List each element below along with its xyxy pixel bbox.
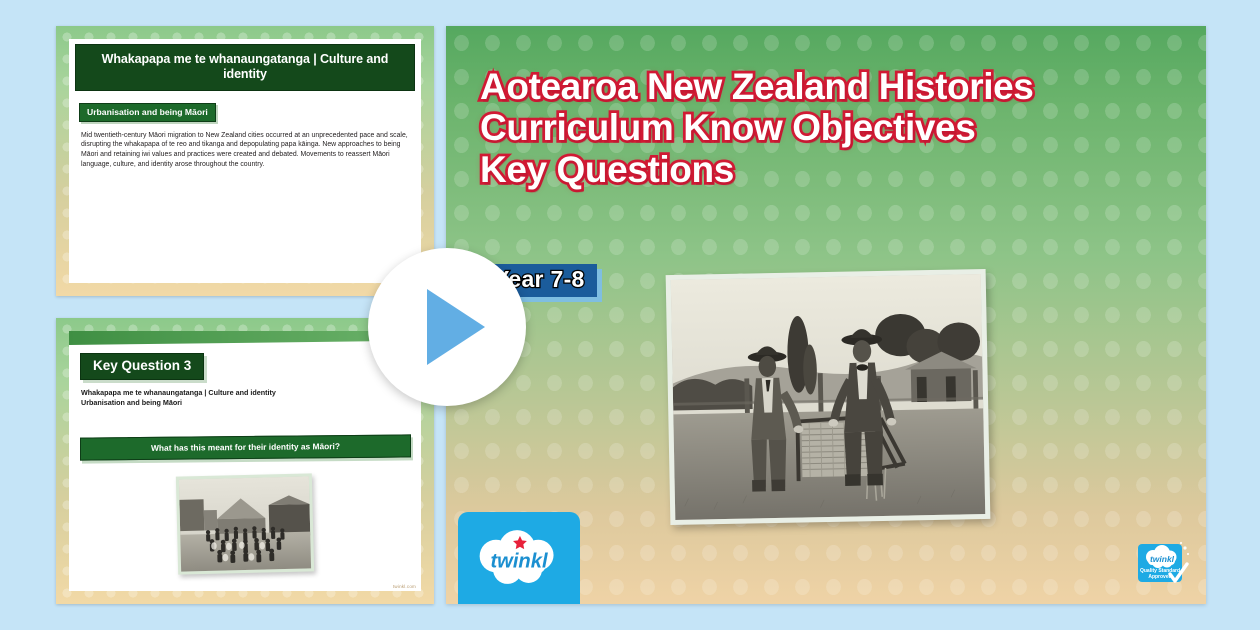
main-title-line-3: Key Questions — [480, 149, 1180, 190]
main-historical-photo — [666, 269, 991, 525]
slide-thumbnail-1[interactable]: Whakapapa me te whanaungatanga | Culture… — [56, 26, 434, 296]
slide-1-canvas: Whakapapa me te whanaungatanga | Culture… — [69, 39, 421, 283]
quality-badge-line-2: Approved — [1148, 574, 1171, 580]
slide-1-topic-tag: Urbanisation and being Māori — [79, 103, 216, 122]
slide-1-body-text: Mid twentieth-century Māori migration to… — [81, 131, 409, 170]
slide-2-subtitle: Whakapapa me te whanaungatanga | Culture… — [81, 388, 421, 408]
twinkl-logo: twinkl — [458, 512, 580, 604]
historical-group-photo-image — [179, 476, 311, 571]
slide-2-subtitle-line-1: Whakapapa me te whanaungatanga | Culture… — [81, 388, 421, 398]
main-title: Aotearoa New Zealand Histories Curriculu… — [480, 66, 1180, 190]
slide-2-question-banner: What has this meant for their identity a… — [80, 434, 411, 460]
historical-flax-weaving-photo-image — [671, 274, 986, 520]
svg-text:twinkl: twinkl — [490, 551, 548, 573]
main-title-line-2: Curriculum Know Objectives — [480, 107, 1180, 148]
play-button[interactable] — [368, 248, 526, 406]
slide-2-watermark: twinkl.com — [393, 584, 416, 589]
quality-standard-approved-badge: twinkl Quality Standard Approved — [1136, 540, 1192, 590]
svg-text:twinkl: twinkl — [1150, 554, 1175, 564]
slide-2-photo — [176, 473, 314, 574]
twinkl-cloud-icon: twinkl — [471, 529, 567, 587]
slide-2-subtitle-line-2: Urbanisation and being Māori — [81, 398, 421, 408]
slide-1-header: Whakapapa me te whanaungatanga | Culture… — [75, 44, 415, 91]
play-triangle-icon — [427, 289, 485, 365]
slide-2-title: Key Question 3 — [80, 353, 204, 380]
main-slide-panel: Aotearoa New Zealand Histories Curriculu… — [446, 26, 1206, 604]
main-title-line-1: Aotearoa New Zealand Histories — [480, 66, 1180, 107]
slide-2-canvas: Key Question 3 Whakapapa me te whanaunga… — [69, 331, 421, 591]
